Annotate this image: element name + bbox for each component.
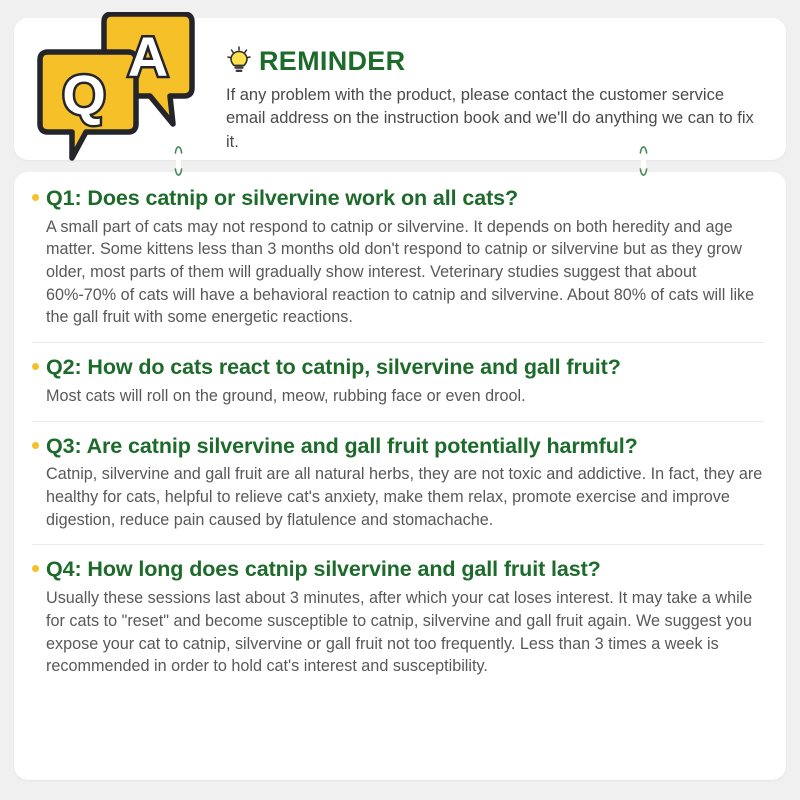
faq-card: Q1: Does catnip or silvervine work on al… — [14, 172, 786, 780]
bullet-dot-icon — [32, 194, 39, 201]
lightbulb-icon — [226, 46, 252, 76]
faq-answer-text: Usually these sessions last about 3 minu… — [46, 587, 764, 678]
bubble-letter-a: A — [128, 25, 168, 88]
staple-connector-left — [172, 143, 185, 179]
qa-speech-bubbles-icon: A Q — [32, 12, 212, 167]
bubble-letter-q: Q — [62, 63, 106, 126]
faq-question-row: Q1: Does catnip or silvervine work on al… — [32, 186, 764, 212]
reminder-title-row: REMINDER — [226, 44, 764, 78]
faq-item-q3: Q3: Are catnip silvervine and gall fruit… — [32, 434, 764, 532]
bullet-dot-icon — [32, 442, 39, 449]
faq-item-q4: Q4: How long does catnip silvervine and … — [32, 557, 764, 677]
faq-divider — [32, 342, 764, 343]
staple-connector-right — [637, 143, 650, 179]
reminder-text-group: REMINDER If any problem with the product… — [226, 44, 764, 154]
faq-question-row: Q3: Are catnip silvervine and gall fruit… — [32, 434, 764, 460]
reminder-title: REMINDER — [259, 48, 405, 75]
faq-item-q1: Q1: Does catnip or silvervine work on al… — [32, 186, 764, 329]
faq-divider — [32, 421, 764, 422]
faq-question-text: Q4: How long does catnip silvervine and … — [46, 557, 601, 583]
reminder-body-text: If any problem with the product, please … — [226, 84, 764, 154]
bullet-dot-icon — [32, 363, 39, 370]
faq-item-q2: Q2: How do cats react to catnip, silverv… — [32, 355, 764, 407]
faq-question-text: Q2: How do cats react to catnip, silverv… — [46, 355, 621, 381]
faq-question-row: Q2: How do cats react to catnip, silverv… — [32, 355, 764, 381]
reminder-header-card: A Q REMINDER If any problem with the pro… — [14, 18, 786, 160]
faq-question-text: Q3: Are catnip silvervine and gall fruit… — [46, 434, 638, 460]
faq-answer-text: A small part of cats may not respond to … — [46, 216, 764, 329]
faq-divider — [32, 544, 764, 545]
faq-answer-text: Catnip, silvervine and gall fruit are al… — [46, 463, 764, 531]
faq-question-text: Q1: Does catnip or silvervine work on al… — [46, 186, 518, 212]
bullet-dot-icon — [32, 565, 39, 572]
faq-question-row: Q4: How long does catnip silvervine and … — [32, 557, 764, 583]
faq-answer-text: Most cats will roll on the ground, meow,… — [46, 385, 764, 408]
